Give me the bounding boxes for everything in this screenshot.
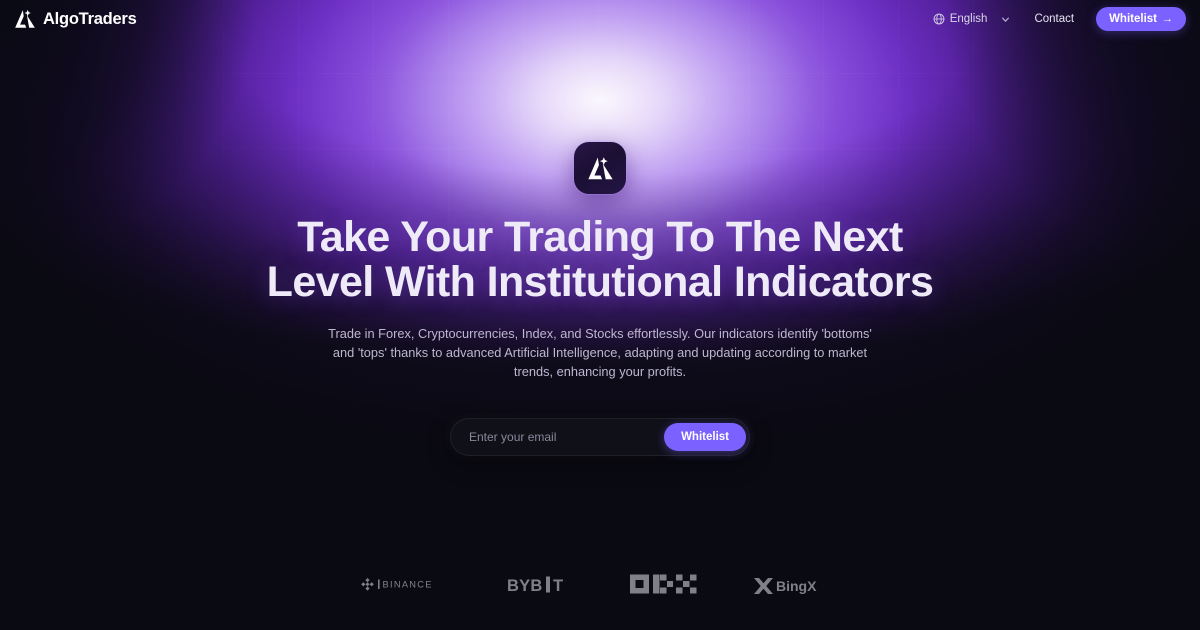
bybit-logo-icon: BYB T [507, 575, 583, 596]
okx-logo-icon [630, 573, 706, 598]
whitelist-signup-form: Whitelist [450, 418, 750, 456]
page-title: Take Your Trading To The Next Level With… [267, 215, 934, 305]
hero-subtitle: Trade in Forex, Cryptocurrencies, Index,… [328, 325, 873, 382]
nav-link-contact[interactable]: Contact [1022, 8, 1086, 30]
partner-bingx: BingX [753, 575, 841, 597]
header-whitelist-label: Whitelist [1109, 13, 1157, 25]
hero-section: Take Your Trading To The Next Level With… [0, 0, 1200, 456]
chevron-down-icon [992, 15, 1010, 24]
brand-name: AlgoTraders [43, 10, 137, 29]
language-label: English [950, 13, 988, 25]
svg-text:T: T [553, 577, 563, 595]
globe-icon [933, 13, 945, 25]
headline-line-2: Level With Institutional Indicators [267, 260, 934, 305]
partner-okx [630, 573, 706, 598]
binance-logo-icon: BINANCE [359, 577, 460, 594]
brand-logo[interactable]: AlgoTraders [14, 9, 137, 29]
header-whitelist-button[interactable]: Whitelist → [1096, 7, 1186, 31]
arrow-right-icon: → [1162, 14, 1173, 25]
algotraders-app-badge-icon [574, 142, 626, 194]
bingx-logo-icon: BingX [753, 575, 841, 597]
landing-page: AlgoTraders English Contact [0, 0, 1200, 630]
email-input[interactable] [451, 430, 664, 444]
site-header: AlgoTraders English Contact [0, 0, 1200, 38]
svg-text:BINANCE: BINANCE [383, 579, 433, 589]
partner-bybit: BYB T [507, 575, 583, 596]
svg-text:BYB: BYB [507, 577, 543, 595]
algotraders-a-mark-icon [14, 9, 36, 29]
partner-binance: BINANCE [359, 577, 460, 594]
partner-logos: BINANCE BYB T [0, 573, 1200, 598]
svg-text:BingX: BingX [776, 578, 817, 594]
headline-line-1: Take Your Trading To The Next [267, 215, 934, 260]
header-nav: English Contact Whitelist → [925, 7, 1186, 31]
form-whitelist-button[interactable]: Whitelist [664, 423, 746, 451]
language-selector[interactable]: English [925, 8, 1019, 30]
